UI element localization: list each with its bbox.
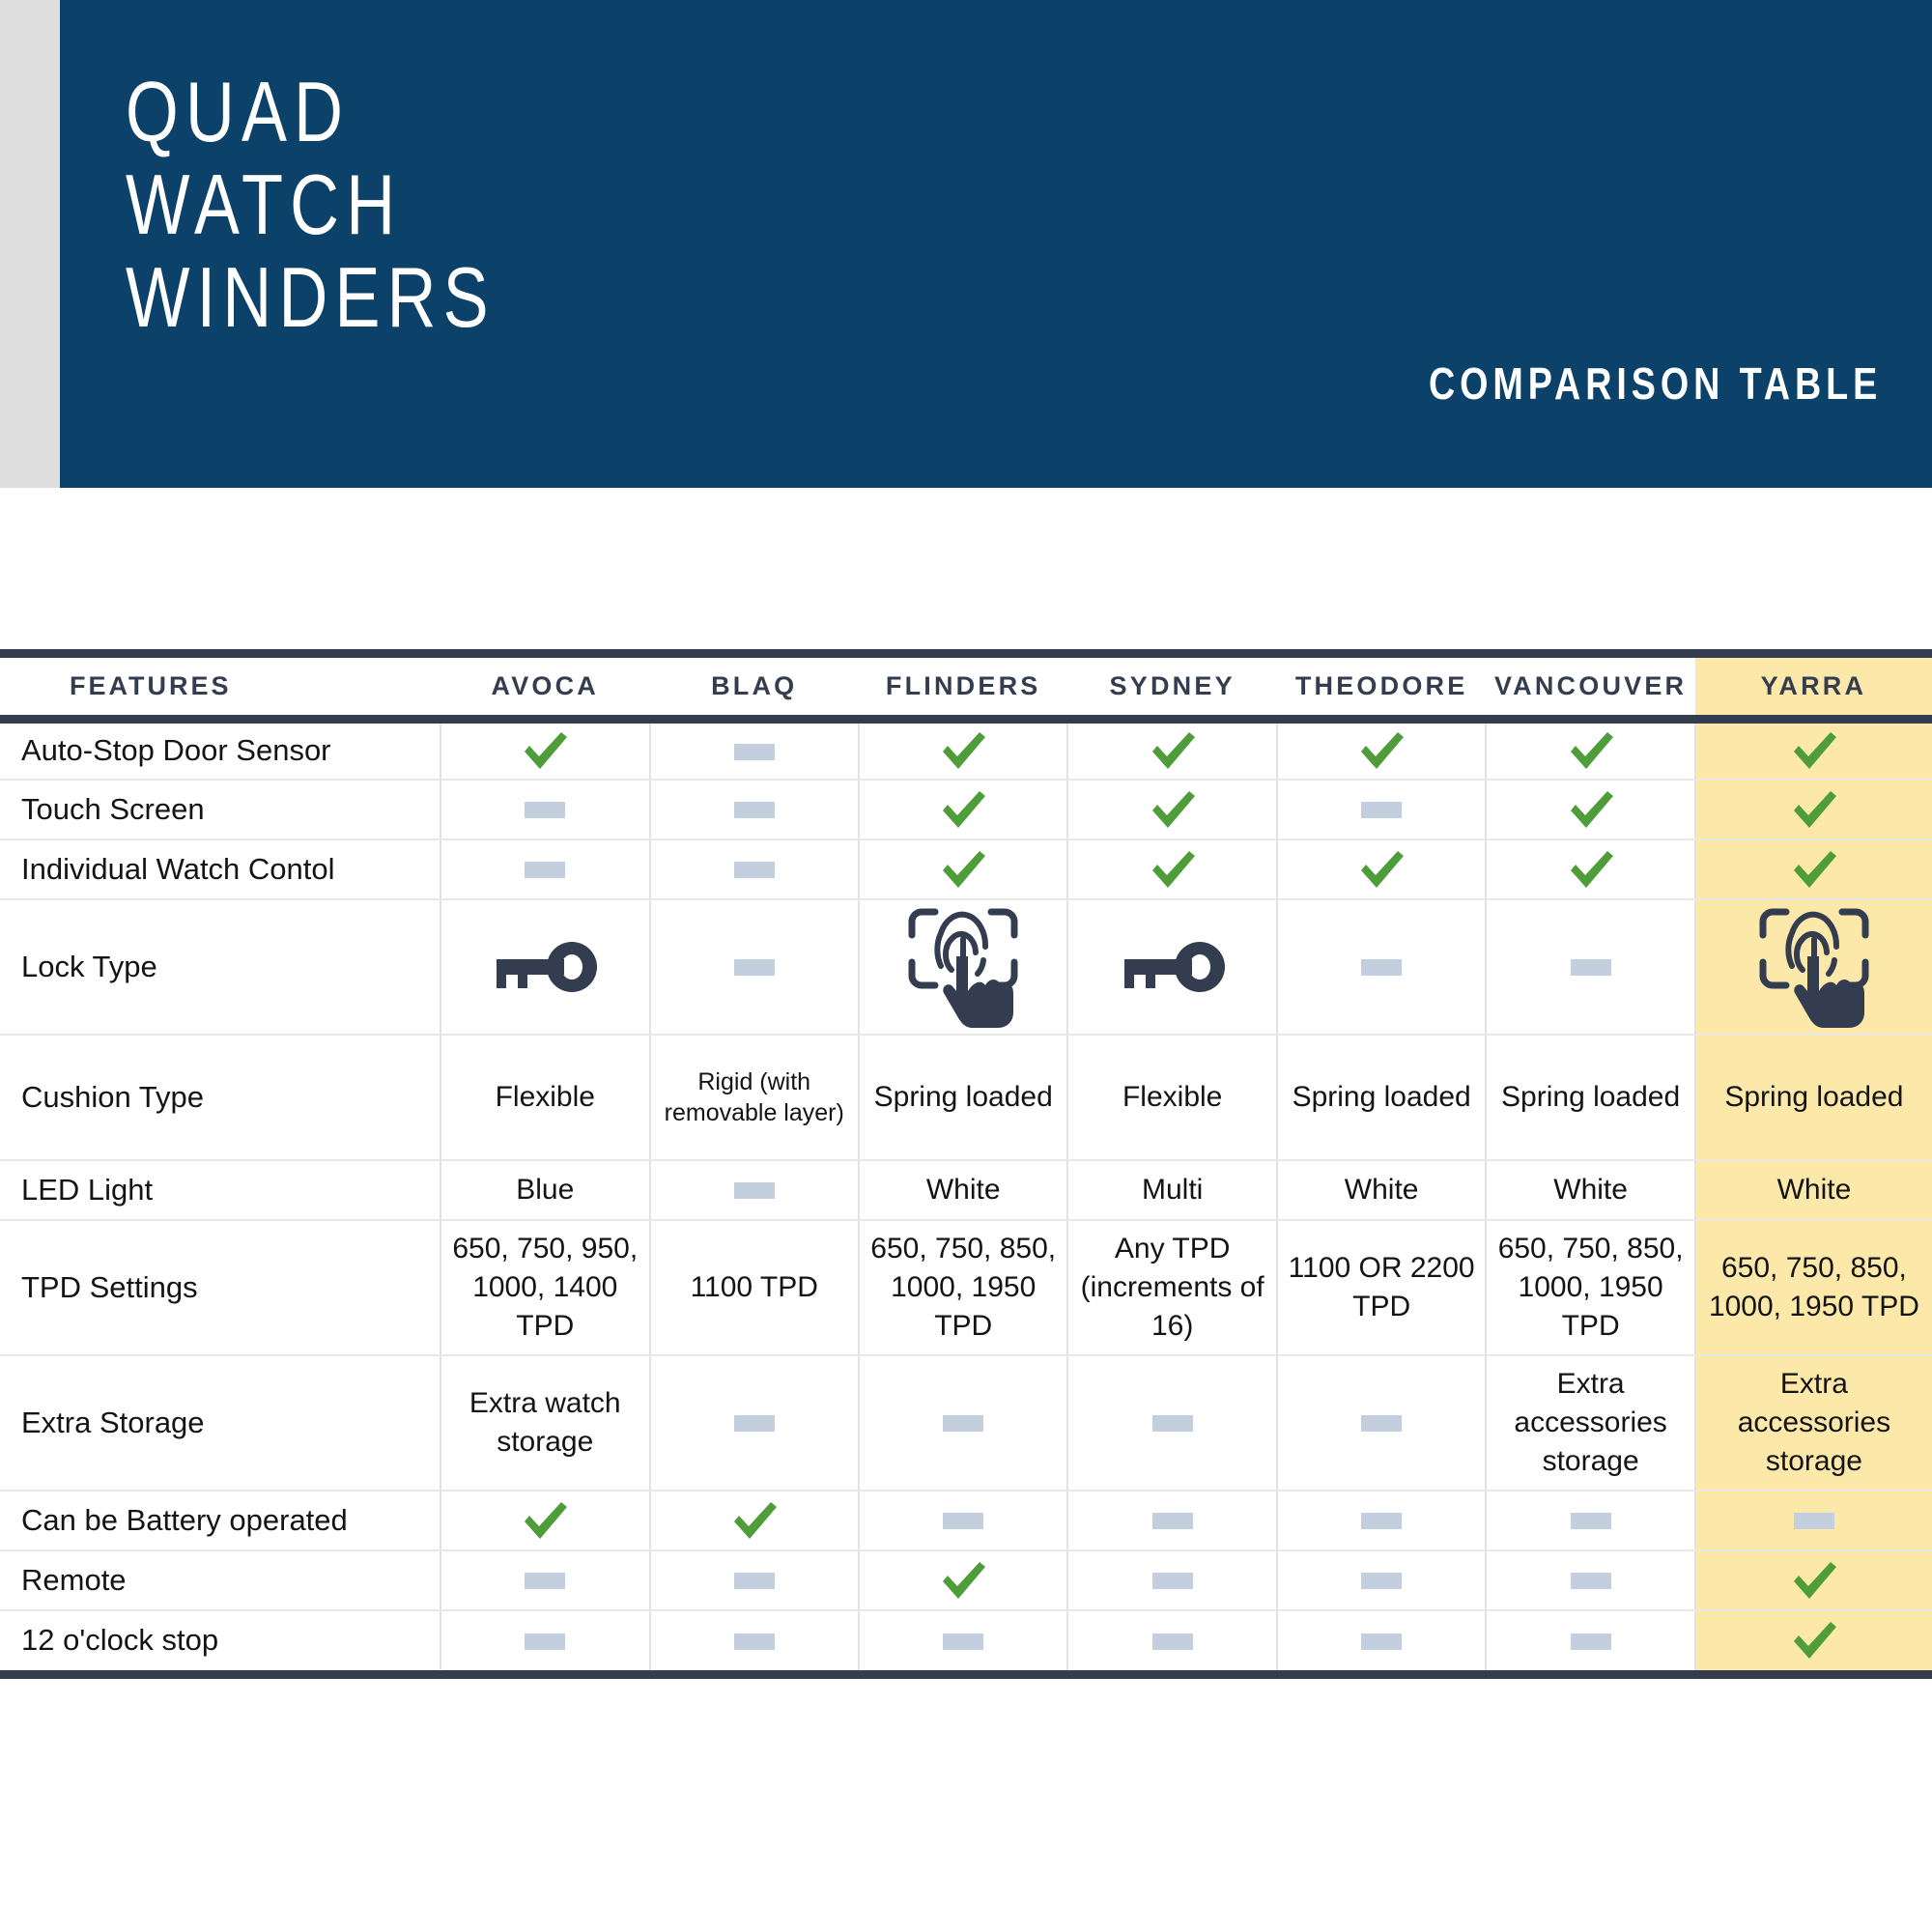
cell-avoca <box>440 720 649 780</box>
table-row: Auto-Stop Door Sensor <box>0 720 1932 780</box>
check-icon <box>1147 843 1199 895</box>
check-icon <box>937 783 989 836</box>
check-icon <box>519 1494 571 1547</box>
table-header-row: FEATURES AVOCABLAQFLINDERSSYDNEYTHEODORE… <box>0 654 1932 720</box>
feature-label: Cushion Type <box>0 1035 440 1160</box>
check-icon <box>1788 1614 1840 1666</box>
cell-text: 650, 750, 950, 1000, 1400 TPD <box>447 1230 642 1346</box>
column-header-yarra[interactable]: YARRA <box>1695 654 1932 720</box>
cell-text: Extra accessories storage <box>1702 1365 1926 1481</box>
check-icon <box>937 1554 989 1606</box>
cell-avoca <box>440 780 649 839</box>
cell-text: Flexible <box>1074 1078 1269 1117</box>
cell-theodore <box>1277 1550 1486 1610</box>
feature-label: Individual Watch Contol <box>0 839 440 899</box>
cell-sydney: Multi <box>1067 1160 1276 1220</box>
cell-yarra <box>1695 899 1932 1035</box>
cell-text: 1100 OR 2200 TPD <box>1284 1249 1479 1326</box>
feature-label: Lock Type <box>0 899 440 1035</box>
cell-sydney: Flexible <box>1067 1035 1276 1160</box>
cell-flinders <box>859 899 1067 1035</box>
dash-icon <box>734 802 775 818</box>
dash-icon <box>734 1573 775 1589</box>
cell-sydney <box>1067 1610 1276 1670</box>
column-header-theodore[interactable]: THEODORE <box>1277 654 1486 720</box>
cell-theodore <box>1277 780 1486 839</box>
cell-blaq <box>650 1610 859 1670</box>
table-body: Auto-Stop Door SensorTouch ScreenIndivid… <box>0 720 1932 1670</box>
dash-icon <box>734 1182 775 1199</box>
feature-label: 12 o'clock stop <box>0 1610 440 1670</box>
dash-icon <box>943 1634 983 1650</box>
column-header-sydney[interactable]: SYDNEY <box>1067 654 1276 720</box>
cell-vancouver <box>1486 720 1694 780</box>
cell-theodore <box>1277 1491 1486 1550</box>
cell-blaq <box>650 780 859 839</box>
table-row: Remote <box>0 1550 1932 1610</box>
title-line-2: WATCH <box>126 156 402 252</box>
cell-vancouver: Extra accessories storage <box>1486 1355 1694 1491</box>
check-icon <box>1788 783 1840 836</box>
column-header-flinders[interactable]: FLINDERS <box>859 654 1067 720</box>
banner-subtitle: COMPARISON TABLE <box>1429 357 1882 410</box>
fingerprint-scan-icon <box>906 906 1020 1028</box>
dash-icon <box>1361 959 1402 976</box>
cell-flinders <box>859 1610 1067 1670</box>
feature-label: Auto-Stop Door Sensor <box>0 720 440 780</box>
comparison-table: FEATURES AVOCABLAQFLINDERSSYDNEYTHEODORE… <box>0 649 1932 1670</box>
table-row: Individual Watch Contol <box>0 839 1932 899</box>
cell-avoca: Flexible <box>440 1035 649 1160</box>
dash-icon <box>1361 1634 1402 1650</box>
column-header-vancouver[interactable]: VANCOUVER <box>1486 654 1694 720</box>
cell-flinders <box>859 839 1067 899</box>
table-row: Cushion TypeFlexibleRigid (with removabl… <box>0 1035 1932 1160</box>
cell-theodore <box>1277 839 1486 899</box>
cell-yarra: Extra accessories storage <box>1695 1355 1932 1491</box>
dash-icon <box>525 1634 565 1650</box>
dash-icon <box>1571 959 1611 976</box>
cell-theodore: 1100 OR 2200 TPD <box>1277 1220 1486 1355</box>
feature-label: TPD Settings <box>0 1220 440 1355</box>
dash-icon <box>525 1573 565 1589</box>
cell-yarra: Spring loaded <box>1695 1035 1932 1160</box>
cell-vancouver <box>1486 839 1694 899</box>
cell-avoca: Blue <box>440 1160 649 1220</box>
dash-icon <box>1152 1415 1193 1432</box>
table-row: Lock Type <box>0 899 1932 1035</box>
cell-theodore: Spring loaded <box>1277 1035 1486 1160</box>
cell-vancouver: Spring loaded <box>1486 1035 1694 1160</box>
cell-text: Extra watch storage <box>447 1384 642 1462</box>
cell-avoca <box>440 1550 649 1610</box>
dash-icon <box>1361 1513 1402 1529</box>
cell-flinders <box>859 1491 1067 1550</box>
dash-icon <box>1361 802 1402 818</box>
check-icon <box>937 843 989 895</box>
cell-sydney <box>1067 1355 1276 1491</box>
feature-label: LED Light <box>0 1160 440 1220</box>
cell-flinders: Spring loaded <box>859 1035 1067 1160</box>
cell-yarra <box>1695 780 1932 839</box>
cell-text: Spring loaded <box>866 1078 1061 1117</box>
check-icon <box>1355 843 1407 895</box>
cell-text: White <box>1284 1171 1479 1209</box>
cell-avoca <box>440 1610 649 1670</box>
cell-flinders <box>859 1550 1067 1610</box>
cell-vancouver: 650, 750, 850, 1000, 1950 TPD <box>1486 1220 1694 1355</box>
dash-icon <box>1152 1634 1193 1650</box>
title-line-1: QUAD <box>126 64 350 159</box>
cell-vancouver <box>1486 1491 1694 1550</box>
cell-text: Extra accessories storage <box>1492 1365 1688 1481</box>
table-row: LED LightBlueWhiteMultiWhiteWhiteWhite <box>0 1160 1932 1220</box>
cell-avoca: Extra watch storage <box>440 1355 649 1491</box>
table-row: Touch Screen <box>0 780 1932 839</box>
cell-blaq <box>650 1550 859 1610</box>
cell-avoca <box>440 839 649 899</box>
cell-text: Spring loaded <box>1492 1078 1688 1117</box>
dash-icon <box>1152 1513 1193 1529</box>
cell-vancouver: White <box>1486 1160 1694 1220</box>
dash-icon <box>1794 1513 1834 1529</box>
cell-theodore <box>1277 720 1486 780</box>
cell-blaq <box>650 1355 859 1491</box>
column-header-blaq[interactable]: BLAQ <box>650 654 859 720</box>
dash-icon <box>1361 1415 1402 1432</box>
cell-sydney <box>1067 839 1276 899</box>
dash-icon <box>943 1415 983 1432</box>
feature-label: Remote <box>0 1550 440 1610</box>
cell-yarra: White <box>1695 1160 1932 1220</box>
cell-theodore <box>1277 1610 1486 1670</box>
table-row: Can be Battery operated <box>0 1491 1932 1550</box>
check-icon <box>1565 843 1617 895</box>
cell-flinders <box>859 720 1067 780</box>
dash-icon <box>1361 1573 1402 1589</box>
cell-blaq: 1100 TPD <box>650 1220 859 1355</box>
cell-sydney <box>1067 720 1276 780</box>
cell-text: Flexible <box>447 1078 642 1117</box>
check-icon <box>519 724 571 777</box>
cell-blaq <box>650 899 859 1035</box>
cell-sydney <box>1067 780 1276 839</box>
cell-flinders: 650, 750, 850, 1000, 1950 TPD <box>859 1220 1067 1355</box>
table-bottom-rule <box>0 1670 1932 1679</box>
title-line-3: WINDERS <box>126 249 496 345</box>
cell-blaq <box>650 1491 859 1550</box>
dash-icon <box>525 802 565 818</box>
dash-icon <box>943 1513 983 1529</box>
dash-icon <box>1571 1573 1611 1589</box>
cell-yarra <box>1695 720 1932 780</box>
feature-label: Touch Screen <box>0 780 440 839</box>
dash-icon <box>525 862 565 878</box>
cell-avoca <box>440 1491 649 1550</box>
dash-icon <box>734 1415 775 1432</box>
cell-vancouver <box>1486 899 1694 1035</box>
cell-text: White <box>866 1171 1061 1209</box>
cell-vancouver <box>1486 1550 1694 1610</box>
cell-text: White <box>1702 1171 1926 1209</box>
cell-text: 650, 750, 850, 1000, 1950 TPD <box>1492 1230 1688 1346</box>
cell-flinders <box>859 780 1067 839</box>
cell-flinders <box>859 1355 1067 1491</box>
check-icon <box>1788 1554 1840 1606</box>
cell-sydney: Any TPD (increments of 16) <box>1067 1220 1276 1355</box>
check-icon <box>1788 724 1840 777</box>
cell-yarra: 650, 750, 850, 1000, 1950 TPD <box>1695 1220 1932 1355</box>
cell-blaq <box>650 839 859 899</box>
cell-avoca: 650, 750, 950, 1000, 1400 TPD <box>440 1220 649 1355</box>
cell-text: Multi <box>1074 1171 1269 1209</box>
feature-label: Extra Storage <box>0 1355 440 1491</box>
page-title: QUAD WATCH WINDERS <box>126 66 496 344</box>
table-head: FEATURES AVOCABLAQFLINDERSSYDNEYTHEODORE… <box>0 654 1932 720</box>
check-icon <box>937 724 989 777</box>
dash-icon <box>1571 1634 1611 1650</box>
check-icon <box>1565 783 1617 836</box>
cell-yarra <box>1695 839 1932 899</box>
dash-icon <box>734 744 775 760</box>
cell-blaq <box>650 1160 859 1220</box>
cell-text: Spring loaded <box>1284 1078 1479 1117</box>
check-icon <box>1355 724 1407 777</box>
table-row: TPD Settings650, 750, 950, 1000, 1400 TP… <box>0 1220 1932 1355</box>
comparison-table-wrapper: FEATURES AVOCABLAQFLINDERSSYDNEYTHEODORE… <box>0 649 1932 1679</box>
cell-sydney <box>1067 1491 1276 1550</box>
cell-flinders: White <box>859 1160 1067 1220</box>
check-icon <box>728 1494 781 1547</box>
check-icon <box>1147 724 1199 777</box>
cell-theodore <box>1277 899 1486 1035</box>
column-header-features: FEATURES <box>0 654 440 720</box>
fingerprint-scan-icon <box>1757 906 1871 1028</box>
key-icon <box>1119 940 1227 994</box>
cell-text: Blue <box>447 1171 642 1209</box>
key-icon <box>491 940 599 994</box>
check-icon <box>1788 843 1840 895</box>
dash-icon <box>1152 1573 1193 1589</box>
feature-label: Can be Battery operated <box>0 1491 440 1550</box>
cell-text: 650, 750, 850, 1000, 1950 TPD <box>866 1230 1061 1346</box>
cell-text: Spring loaded <box>1702 1078 1926 1117</box>
cell-yarra <box>1695 1491 1932 1550</box>
dash-icon <box>734 862 775 878</box>
dash-icon <box>1571 1513 1611 1529</box>
dash-icon <box>734 1634 775 1650</box>
column-header-avoca[interactable]: AVOCA <box>440 654 649 720</box>
cell-blaq: Rigid (with removable layer) <box>650 1035 859 1160</box>
check-icon <box>1565 724 1617 777</box>
cell-text: 650, 750, 850, 1000, 1950 TPD <box>1702 1249 1926 1326</box>
cell-theodore: White <box>1277 1160 1486 1220</box>
dash-icon <box>734 959 775 976</box>
cell-sydney <box>1067 899 1276 1035</box>
cell-yarra <box>1695 1610 1932 1670</box>
cell-yarra <box>1695 1550 1932 1610</box>
cell-theodore <box>1277 1355 1486 1491</box>
cell-text: 1100 TPD <box>657 1268 852 1307</box>
cell-text: Rigid (with removable layer) <box>657 1066 852 1128</box>
cell-text: White <box>1492 1171 1688 1209</box>
table-row: Extra StorageExtra watch storageExtra ac… <box>0 1355 1932 1491</box>
page-banner: QUAD WATCH WINDERS COMPARISON TABLE <box>0 0 1932 488</box>
cell-vancouver <box>1486 1610 1694 1670</box>
cell-blaq <box>650 720 859 780</box>
cell-sydney <box>1067 1550 1276 1610</box>
table-row: 12 o'clock stop <box>0 1610 1932 1670</box>
cell-vancouver <box>1486 780 1694 839</box>
check-icon <box>1147 783 1199 836</box>
cell-text: Any TPD (increments of 16) <box>1074 1230 1269 1346</box>
cell-avoca <box>440 899 649 1035</box>
